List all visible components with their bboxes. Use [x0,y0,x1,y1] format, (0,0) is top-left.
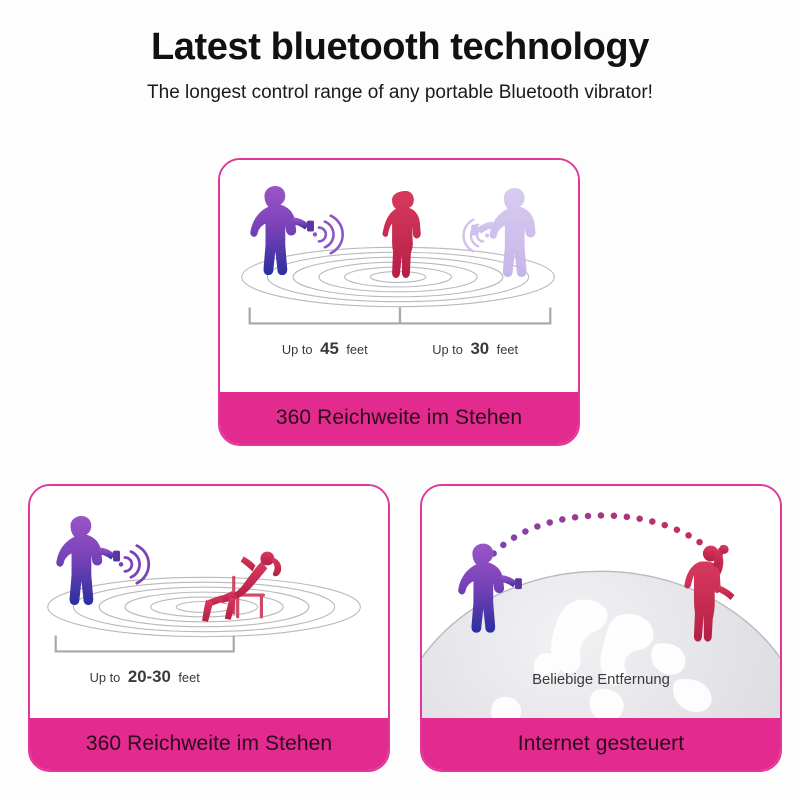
figure-female-seated-on-chair [202,552,281,622]
seated-range-artwork: Up to 20-30 feet [30,486,388,718]
svg-text:Up to 30 f: Up to 30 feet [432,339,518,358]
figure-male-with-phone [56,516,120,605]
panel-standing-range-illustration: Up to 45 feet Up to 30 feet [220,160,578,392]
signal-waves-icon [119,546,149,584]
panel-seated-range-caption: 360 Reichweite im Stehen [30,718,388,770]
range-label-left-value: 45 [320,339,339,358]
range-label-right-suffix: feet [497,342,519,357]
range-label-value: 20-30 [128,667,171,686]
panel-standing-range-caption: 360 Reichweite im Stehen [220,392,578,444]
range-label: Up to 20-30 feet [90,667,201,686]
distance-label: Beliebige Entfernung [532,672,670,688]
signal-waves-icon [313,216,343,254]
standing-range-artwork: Up to 45 feet Up to 30 feet [220,160,578,392]
internet-controlled-artwork: Beliebige Entfernung [422,486,780,718]
range-label-right-prefix: Up to [432,342,463,357]
ripple-rings [48,577,361,636]
figure-male-with-phone [250,186,314,275]
figure-female-standing [383,191,421,278]
panel-internet-controlled-caption: Internet gesteuert [422,718,780,770]
figure-ghost-male-with-phone [471,188,535,277]
range-bracket [250,309,551,324]
panel-seated-range-illustration: Up to 20-30 feet [30,486,388,718]
dotted-connection-arc [485,515,718,563]
panel-internet-controlled-illustration: Beliebige Entfernung [422,486,780,718]
range-label-suffix: feet [178,670,200,685]
svg-text:Up to 20-30: Up to 20-30 feet [90,667,201,686]
page-title: Latest bluetooth technology [0,0,800,69]
range-label-right-value: 30 [470,339,489,358]
panel-standing-range[interactable]: Up to 45 feet Up to 30 feet 360 Reichwei… [218,158,580,446]
range-bracket [56,637,234,652]
page-subtitle: The longest control range of any portabl… [0,69,800,104]
svg-text:Up to 45 f: Up to 45 feet [282,339,368,358]
range-label-left-prefix: Up to [282,342,313,357]
range-label-right: Up to 30 feet [432,339,518,358]
panel-internet-controlled[interactable]: Beliebige Entfernung Internet gesteuert [420,484,782,772]
range-label-prefix: Up to [90,670,121,685]
range-label-left: Up to 45 feet [282,339,368,358]
distance-label-text: Beliebige Entfernung [532,672,670,688]
page-header: Latest bluetooth technology The longest … [0,0,800,104]
range-label-left-suffix: feet [346,342,368,357]
panel-seated-range[interactable]: Up to 20-30 feet 360 Reichweite im Stehe… [28,484,390,772]
